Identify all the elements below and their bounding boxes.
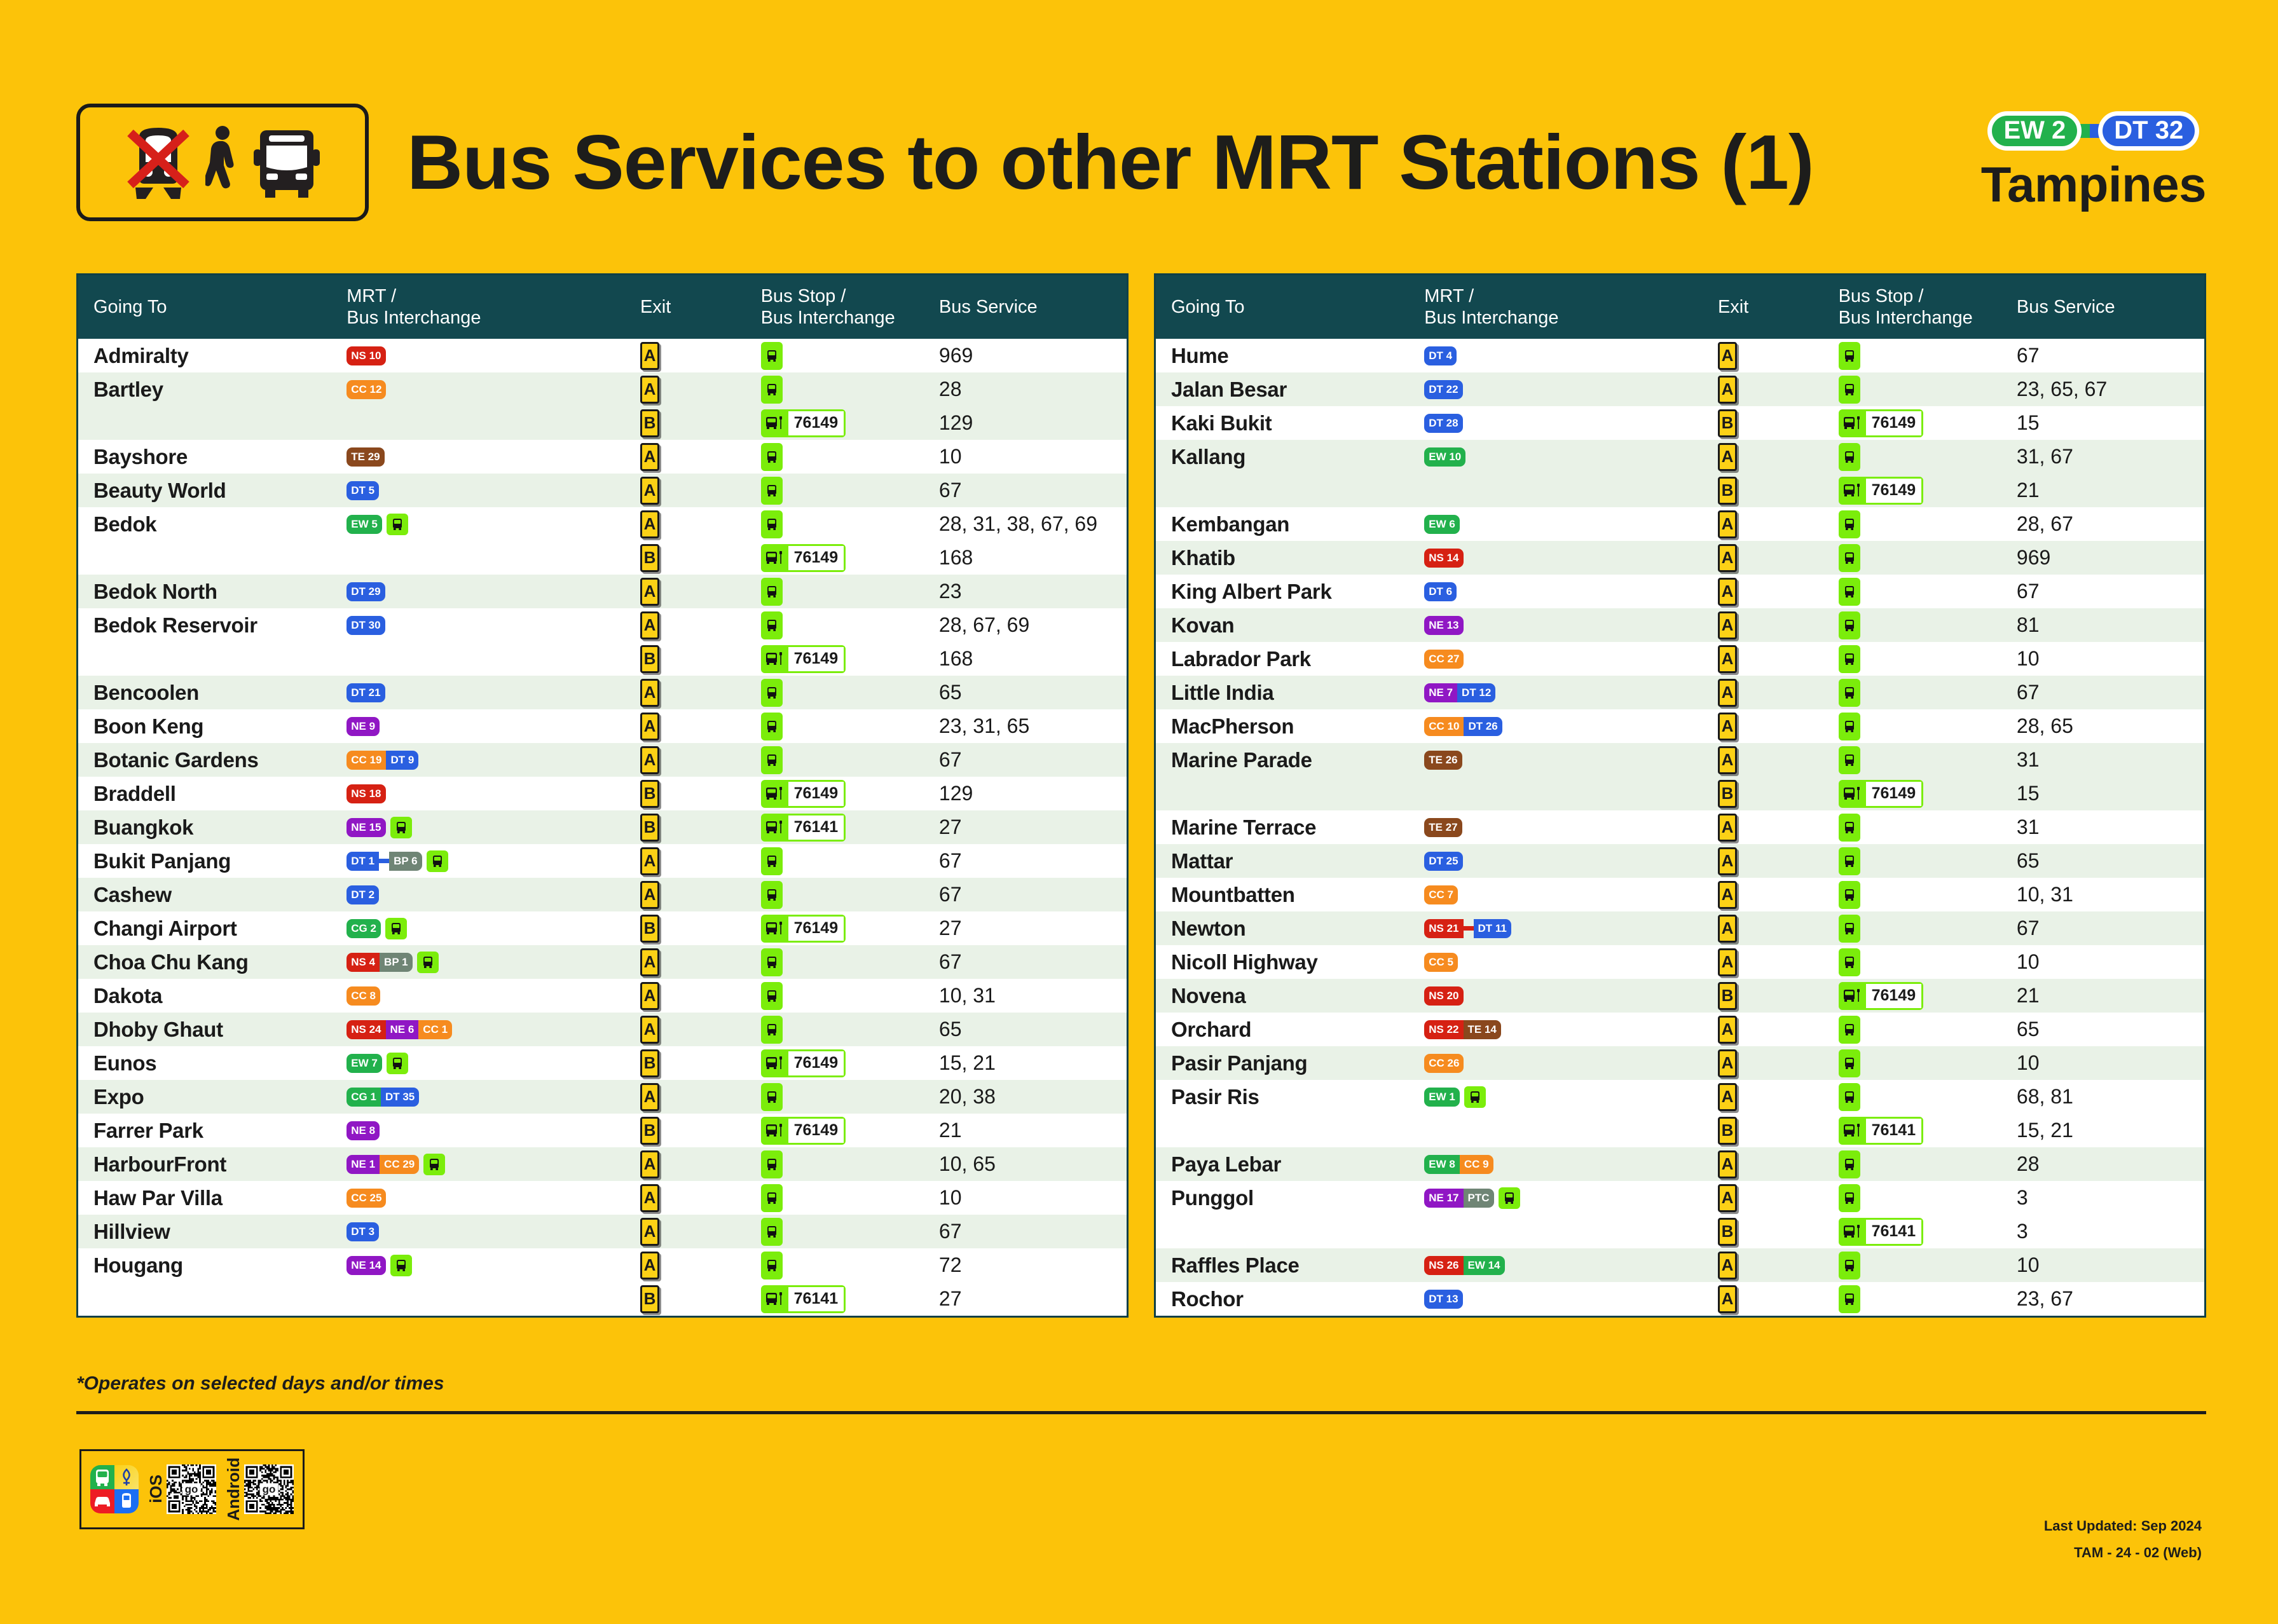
- bus-stop-number: 76149: [788, 647, 844, 671]
- table-row: Boon KengNE 9A23, 31, 65: [78, 709, 1127, 743]
- bus-stop-number-badge: 76149: [761, 1049, 846, 1077]
- station-code-badge: NE 14: [347, 1256, 385, 1275]
- table-row: B76149129: [78, 406, 1127, 440]
- qr-ios-label: iOS: [148, 1475, 164, 1503]
- station-code-group: NE 15: [347, 818, 385, 837]
- cell-bus-service: 15: [2010, 777, 2204, 810]
- cell-exit: A: [634, 743, 755, 777]
- table-row: B76149168: [78, 642, 1127, 676]
- bus-stop-number: 76149: [1866, 411, 1922, 435]
- station-code-badge: NE 9: [347, 717, 380, 736]
- bus-stop-icon: [1839, 1049, 1860, 1077]
- station-code-badge: NS 26: [1424, 1256, 1463, 1275]
- bus-stop-icon: [1839, 645, 1860, 673]
- cell-exit: A: [634, 575, 755, 608]
- cell-mrt-interchange: NE 14: [340, 1248, 634, 1282]
- cell-exit: A: [1712, 440, 1832, 474]
- cell-bus-service: 21: [2010, 474, 2204, 507]
- document-meta: Last Updated: Sep 2024 TAM - 24 - 02 (We…: [2044, 1513, 2202, 1566]
- cell-exit: A: [634, 440, 755, 474]
- cell-bus-service: 27: [933, 911, 1127, 945]
- station-code-group: NS 24NE 6CC 1: [347, 1020, 452, 1039]
- cell-going-to: Marine Parade: [1156, 743, 1418, 777]
- bus-stop-icon: [1839, 611, 1860, 639]
- cell-going-to: MacPherson: [1156, 709, 1418, 743]
- cell-exit: A: [634, 1215, 755, 1248]
- station-code-badge: EW 5: [347, 515, 382, 534]
- bus-stop-number: 76149: [1866, 782, 1922, 806]
- cell-bus-service: 67: [2010, 339, 2204, 372]
- exit-badge: A: [640, 713, 659, 740]
- station-code-badge: DT 29: [347, 582, 385, 601]
- cell-bus-stop: 76141: [1832, 1215, 2010, 1248]
- cell-going-to: Marine Terrace: [1156, 810, 1418, 844]
- table-row: King Albert ParkDT 6A67: [1156, 575, 2204, 608]
- bus-stop-icon: [761, 342, 783, 370]
- cell-bus-service: 65: [933, 1013, 1127, 1046]
- station-code-badge: CC 12: [347, 380, 386, 399]
- cell-mrt-interchange: [340, 1282, 634, 1316]
- bus-interchange-icon: [427, 850, 448, 872]
- table-row: B7614921: [1156, 474, 2204, 507]
- cell-bus-stop: [755, 372, 933, 406]
- cell-going-to: Admiralty: [78, 339, 340, 372]
- station-code-group: NE 1CC 29: [347, 1155, 419, 1174]
- cell-bus-service: 23, 65, 67: [2010, 372, 2204, 406]
- station-code-badge: CC 10: [1424, 717, 1464, 736]
- cell-exit: A: [1712, 1181, 1832, 1215]
- station-code-badge: TE 29: [347, 447, 384, 467]
- cell-exit: A: [1712, 844, 1832, 878]
- cell-bus-stop: [755, 1248, 933, 1282]
- station-code-group: EW 8CC 9: [1424, 1155, 1493, 1174]
- bus-interchange-icon: [390, 1255, 412, 1276]
- cell-mrt-interchange: DT 30: [340, 608, 634, 642]
- cell-bus-service: 67: [2010, 575, 2204, 608]
- exit-badge: A: [1718, 342, 1737, 370]
- cell-bus-stop: 76149: [1832, 406, 2010, 440]
- table-row: Raffles PlaceNS 26EW 14A10: [1156, 1248, 2204, 1282]
- exit-badge: A: [1718, 1016, 1737, 1044]
- cell-mrt-interchange: [1418, 1114, 1712, 1147]
- col-going-to: Going To: [78, 275, 340, 339]
- bus-stop-icon: [761, 679, 783, 707]
- cell-bus-stop: [755, 979, 933, 1013]
- left-bus-services-table: Going To MRT / Bus Interchange Exit Bus …: [78, 275, 1127, 1316]
- station-code-badge: CC 5: [1424, 953, 1458, 972]
- cell-mrt-interchange: DT 3: [340, 1215, 634, 1248]
- cell-bus-stop: 76141: [755, 810, 933, 844]
- cell-going-to: Boon Keng: [78, 709, 340, 743]
- cell-bus-stop: [755, 575, 933, 608]
- bus-stop-number-badge: 76149: [761, 645, 846, 673]
- cell-exit: B: [1712, 777, 1832, 810]
- col-mrt-interchange: MRT / Bus Interchange: [1418, 275, 1712, 339]
- cell-bus-stop: [1832, 709, 2010, 743]
- cell-going-to: Novena: [1156, 979, 1418, 1013]
- cell-bus-stop: [755, 1080, 933, 1114]
- cell-bus-stop: [1832, 743, 2010, 777]
- col-exit: Exit: [1712, 275, 1832, 339]
- exit-badge: A: [1718, 645, 1737, 673]
- station-code-badge: NE 6: [386, 1020, 419, 1039]
- station-code-badge: CC 7: [1424, 885, 1458, 904]
- cell-bus-service: 67: [933, 844, 1127, 878]
- table-row: KhatibNS 14A969: [1156, 541, 2204, 575]
- line-connector: [1464, 926, 1474, 931]
- bus-stop-icon: [761, 1083, 783, 1111]
- left-table-container: Going To MRT / Bus Interchange Exit Bus …: [76, 273, 1129, 1318]
- cell-exit: A: [1712, 743, 1832, 777]
- table-row: BencoolenDT 21A65: [78, 676, 1127, 709]
- bus-stop-number-badge: 76149: [761, 1117, 846, 1145]
- cell-going-to: Khatib: [1156, 541, 1418, 575]
- cell-going-to: Kaki Bukit: [1156, 406, 1418, 440]
- exit-badge: B: [640, 915, 659, 943]
- station-code-group: CC 10DT 26: [1424, 717, 1502, 736]
- station-code-badge: DT 30: [347, 616, 385, 635]
- bus-stop-pole-icon: [1841, 411, 1866, 435]
- cell-mrt-interchange: NS 21DT 11: [1418, 911, 1712, 945]
- table-row: MountbattenCC 7A10, 31: [1156, 878, 2204, 911]
- cell-mrt-interchange: NE 1CC 29: [340, 1147, 634, 1181]
- cell-bus-stop: 76149: [1832, 777, 2010, 810]
- table-row: RochorDT 13A23, 67: [1156, 1282, 2204, 1316]
- cell-bus-stop: [755, 474, 933, 507]
- cell-mrt-interchange: CC 7: [1418, 878, 1712, 911]
- cell-bus-stop: [1832, 1248, 2010, 1282]
- bus-stop-number-badge: 76149: [761, 780, 846, 808]
- station-name: Tampines: [1981, 156, 2206, 214]
- table-row: Beauty WorldDT 5A67: [78, 474, 1127, 507]
- station-code-group: DT 1BP 6: [347, 852, 422, 871]
- exit-badge: B: [640, 544, 659, 572]
- cell-going-to: Pasir Panjang: [1156, 1046, 1418, 1080]
- bus-stop-icon: [761, 1252, 783, 1279]
- table-row: Marine TerraceTE 27A31: [1156, 810, 2204, 844]
- bus-stop-icon: [1839, 376, 1860, 404]
- table-row: Choa Chu KangNS 4BP 1A67: [78, 945, 1127, 979]
- exit-badge: A: [1718, 679, 1737, 707]
- cell-bus-service: 67: [933, 945, 1127, 979]
- cell-exit: A: [1712, 878, 1832, 911]
- bus-stop-number: 76141: [788, 815, 844, 840]
- station-code-group: DT 22: [1424, 380, 1462, 399]
- cell-exit: A: [1712, 541, 1832, 575]
- cell-going-to: Cashew: [78, 878, 340, 911]
- right-table-container: Going To MRT / Bus Interchange Exit Bus …: [1154, 273, 2206, 1318]
- cell-mrt-interchange: DT 1BP 6: [340, 844, 634, 878]
- station-code-group: DT 13: [1424, 1290, 1462, 1309]
- cell-bus-stop: [1832, 844, 2010, 878]
- cell-mrt-interchange: [1418, 777, 1712, 810]
- bus-stop-icon: [761, 578, 783, 606]
- table-row: BedokEW 5A28, 31, 38, 67, 69: [78, 507, 1127, 541]
- bus-stop-icon: [761, 948, 783, 976]
- bus-stop-pole-icon: [763, 815, 788, 840]
- cell-bus-service: 10, 31: [2010, 878, 2204, 911]
- cell-mrt-interchange: DT 28: [1418, 406, 1712, 440]
- table-row: Bukit PanjangDT 1BP 6A67: [78, 844, 1127, 878]
- cell-mrt-interchange: DT 5: [340, 474, 634, 507]
- cell-bus-stop: [1832, 1147, 2010, 1181]
- cell-going-to: Kallang: [1156, 440, 1418, 474]
- bus-stop-pole-icon: [1841, 1220, 1866, 1244]
- bus-stop-icon: [1839, 847, 1860, 875]
- station-code-group: NE 7DT 12: [1424, 683, 1495, 702]
- cell-mrt-interchange: DT 29: [340, 575, 634, 608]
- cell-mrt-interchange: DT 6: [1418, 575, 1712, 608]
- cell-exit: A: [634, 1181, 755, 1215]
- cell-exit: B: [1712, 1114, 1832, 1147]
- station-code-badge: DT 5: [347, 481, 379, 500]
- col-mrt-line1: MRT /: [1424, 286, 1474, 306]
- cell-bus-service: 10: [2010, 642, 2204, 676]
- cell-exit: B: [634, 777, 755, 810]
- cell-going-to: Raffles Place: [1156, 1248, 1418, 1282]
- cell-bus-service: 65: [2010, 844, 2204, 878]
- exit-badge: B: [640, 780, 659, 808]
- bus-stop-icon: [761, 510, 783, 538]
- station-code-group: CG 1DT 35: [347, 1088, 419, 1107]
- bus-stop-number-badge: 76141: [761, 814, 846, 842]
- cell-mrt-interchange: CG 2: [340, 911, 634, 945]
- cell-bus-service: 27: [933, 810, 1127, 844]
- exit-badge: B: [1718, 409, 1737, 437]
- cell-mrt-interchange: CC 26: [1418, 1046, 1712, 1080]
- qr-ios-code: go: [167, 1464, 216, 1514]
- bus-stop-pole-icon: [1841, 1119, 1866, 1143]
- station-code-group: NS 4BP 1: [347, 953, 412, 972]
- cell-exit: A: [634, 878, 755, 911]
- cell-going-to: Eunos: [78, 1046, 340, 1080]
- table-row: AdmiraltyNS 10A969: [78, 339, 1127, 372]
- cell-bus-stop: [1832, 372, 2010, 406]
- station-code-group: NS 20: [1424, 986, 1463, 1006]
- station-code-badge: DT 3: [347, 1222, 379, 1241]
- cell-bus-service: 10: [2010, 1248, 2204, 1282]
- cell-going-to: Bartley: [78, 372, 340, 406]
- exit-badge: A: [640, 443, 659, 471]
- col-going-to: Going To: [1156, 275, 1418, 339]
- station-code-badge: DT 13: [1424, 1290, 1462, 1309]
- cell-bus-service: 31: [2010, 810, 2204, 844]
- exit-badge: A: [1718, 611, 1737, 639]
- cell-exit: A: [1712, 709, 1832, 743]
- cell-going-to: [78, 406, 340, 440]
- cell-mrt-interchange: NS 10: [340, 339, 634, 372]
- cell-exit: B: [634, 406, 755, 440]
- exit-badge: A: [640, 1150, 659, 1178]
- bus-stop-pole-icon: [763, 647, 788, 671]
- cell-bus-stop: 76149: [755, 777, 933, 810]
- bus-stop-icon: [1839, 578, 1860, 606]
- station-code-group: EW 1: [1424, 1088, 1460, 1107]
- cell-bus-service: 28, 31, 38, 67, 69: [933, 507, 1127, 541]
- cell-exit: A: [1712, 810, 1832, 844]
- cell-bus-stop: [1832, 878, 2010, 911]
- table-row: Little IndiaNE 7DT 12A67: [1156, 676, 2204, 709]
- exit-badge: A: [640, 679, 659, 707]
- cell-mrt-interchange: NE 17PTC: [1418, 1181, 1712, 1215]
- station-code-badge: NS 24: [347, 1020, 385, 1039]
- table-row: MattarDT 25A65: [1156, 844, 2204, 878]
- station-code-group: DT 28: [1424, 414, 1462, 433]
- table-row: Dhoby GhautNS 24NE 6CC 1A65: [78, 1013, 1127, 1046]
- bus-stop-icon: [1839, 544, 1860, 572]
- table-row: Kaki BukitDT 28B7614915: [1156, 406, 2204, 440]
- cell-going-to: Changi Airport: [78, 911, 340, 945]
- bus-stop-pole-icon: [763, 1287, 788, 1311]
- station-line-badge-dt: DT 32: [2098, 111, 2199, 151]
- cell-bus-stop: [1832, 507, 2010, 541]
- bus-stop-pole-icon: [1841, 984, 1866, 1008]
- cell-mrt-interchange: NS 26EW 14: [1418, 1248, 1712, 1282]
- exit-badge: A: [1718, 578, 1737, 606]
- exit-badge: A: [1718, 1083, 1737, 1111]
- cell-exit: A: [1712, 608, 1832, 642]
- cell-exit: B: [634, 911, 755, 945]
- station-code-badge: EW 7: [347, 1054, 382, 1073]
- exit-badge: A: [1718, 915, 1737, 943]
- cell-bus-service: 67: [933, 1215, 1127, 1248]
- bus-stop-pole-icon: [763, 917, 788, 941]
- bus-icon: [249, 124, 325, 200]
- station-code-group: NS 22TE 14: [1424, 1020, 1501, 1039]
- bus-stop-icon: [1839, 679, 1860, 707]
- cell-exit: B: [634, 541, 755, 575]
- cell-bus-stop: [755, 676, 933, 709]
- exit-badge: A: [1718, 948, 1737, 976]
- station-code-badge: CC 25: [347, 1189, 386, 1208]
- exit-badge: A: [640, 477, 659, 505]
- station-code-badge: BP 1: [380, 953, 413, 972]
- cell-bus-stop: [1832, 676, 2010, 709]
- cell-exit: A: [1712, 676, 1832, 709]
- cell-bus-stop: [755, 608, 933, 642]
- cell-exit: A: [1712, 642, 1832, 676]
- table-row: CashewDT 2A67: [78, 878, 1127, 911]
- bus-stop-icon: [1839, 814, 1860, 842]
- exit-badge: A: [640, 746, 659, 774]
- bus-stop-number-badge: 76149: [1839, 409, 1924, 437]
- station-code-group: CC 8: [347, 986, 380, 1006]
- cell-bus-service: 68, 81: [2010, 1080, 2204, 1114]
- table-row: HumeDT 4A67: [1156, 339, 2204, 372]
- station-code-badge: CG 1: [347, 1088, 381, 1107]
- station-code-group: NS 18: [347, 784, 385, 803]
- exit-badge: A: [1718, 713, 1737, 740]
- cell-going-to: Buangkok: [78, 810, 340, 844]
- cell-bus-stop: [755, 844, 933, 878]
- cell-bus-stop: [755, 1013, 933, 1046]
- cell-bus-stop: 76149: [755, 911, 933, 945]
- exit-badge: B: [1718, 477, 1737, 505]
- station-code-badge: EW 6: [1424, 515, 1460, 534]
- bus-stop-number-badge: 76149: [761, 409, 846, 437]
- cell-mrt-interchange: EW 7: [340, 1046, 634, 1080]
- cell-mrt-interchange: EW 10: [1418, 440, 1712, 474]
- cell-mrt-interchange: DT 2: [340, 878, 634, 911]
- bus-stop-number-badge: 76149: [761, 915, 846, 943]
- station-code-badge: DT 28: [1424, 414, 1462, 433]
- no-train-icon: [120, 124, 196, 200]
- cell-mrt-interchange: TE 27: [1418, 810, 1712, 844]
- cell-bus-service: 10: [933, 1181, 1127, 1215]
- cell-mrt-interchange: [1418, 474, 1712, 507]
- table-row: KembanganEW 6A28, 67: [1156, 507, 2204, 541]
- cell-bus-service: 168: [933, 642, 1127, 676]
- transport-app-icon: [90, 1465, 139, 1513]
- line-connector: [379, 859, 389, 863]
- cell-mrt-interchange: EW 6: [1418, 507, 1712, 541]
- cell-bus-service: 168: [933, 541, 1127, 575]
- cell-mrt-interchange: TE 29: [340, 440, 634, 474]
- cell-bus-service: 65: [2010, 1013, 2204, 1046]
- cell-mrt-interchange: DT 22: [1418, 372, 1712, 406]
- table-row: BartleyCC 12A28: [78, 372, 1127, 406]
- table-row: HillviewDT 3A67: [78, 1215, 1127, 1248]
- cell-going-to: [1156, 1114, 1418, 1147]
- exit-badge: B: [640, 1049, 659, 1077]
- bus-stop-icon: [1839, 443, 1860, 471]
- cell-exit: A: [634, 372, 755, 406]
- page-title: Bus Services to other MRT Stations (1): [407, 118, 1814, 207]
- cell-bus-service: 67: [933, 743, 1127, 777]
- cell-bus-service: 969: [933, 339, 1127, 372]
- station-code-group: NE 14: [347, 1256, 385, 1275]
- cell-mrt-interchange: CC 25: [340, 1181, 634, 1215]
- station-code-badge: NS 14: [1424, 549, 1463, 568]
- cell-mrt-interchange: NS 14: [1418, 541, 1712, 575]
- cell-mrt-interchange: DT 25: [1418, 844, 1712, 878]
- transport-app-box: iOS go Android go: [79, 1449, 305, 1529]
- station-code-group: CC 7: [1424, 885, 1458, 904]
- cell-bus-service: 67: [2010, 676, 2204, 709]
- cell-exit: B: [634, 1114, 755, 1147]
- station-code-group: TE 26: [1424, 751, 1462, 770]
- cell-mrt-interchange: EW 8CC 9: [1418, 1147, 1712, 1181]
- exit-badge: B: [1718, 780, 1737, 808]
- cell-bus-service: 10, 65: [933, 1147, 1127, 1181]
- left-table-body: AdmiraltyNS 10A969BartleyCC 12A28B761491…: [78, 339, 1127, 1316]
- exit-badge: B: [640, 1285, 659, 1313]
- exit-badge: A: [640, 1252, 659, 1279]
- cell-mrt-interchange: DT 13: [1418, 1282, 1712, 1316]
- bus-stop-icon: [761, 1016, 783, 1044]
- cell-going-to: Labrador Park: [1156, 642, 1418, 676]
- cell-bus-service: 20, 38: [933, 1080, 1127, 1114]
- station-code-group: EW 7: [347, 1054, 382, 1073]
- table-row: Paya LebarEW 8CC 9A28: [1156, 1147, 2204, 1181]
- station-line-pills: EW 2 DT 32: [1981, 111, 2206, 151]
- cell-bus-stop: 76149: [755, 642, 933, 676]
- footer-divider: [76, 1411, 2206, 1414]
- cell-mrt-interchange: DT 21: [340, 676, 634, 709]
- cell-going-to: Braddell: [78, 777, 340, 810]
- station-code-group: CG 2: [347, 919, 381, 938]
- station-code-badge: NS 10: [347, 346, 385, 365]
- exit-badge: B: [640, 814, 659, 842]
- bus-stop-number-badge: 76149: [1839, 780, 1924, 808]
- cell-bus-service: 67: [933, 878, 1127, 911]
- bus-stop-number: 76149: [788, 1119, 844, 1143]
- station-code-badge: DT 21: [347, 683, 385, 702]
- cell-bus-stop: [1832, 541, 2010, 575]
- station-code-badge: NE 13: [1424, 616, 1463, 635]
- cell-bus-service: 129: [933, 777, 1127, 810]
- cell-bus-service: 65: [933, 676, 1127, 709]
